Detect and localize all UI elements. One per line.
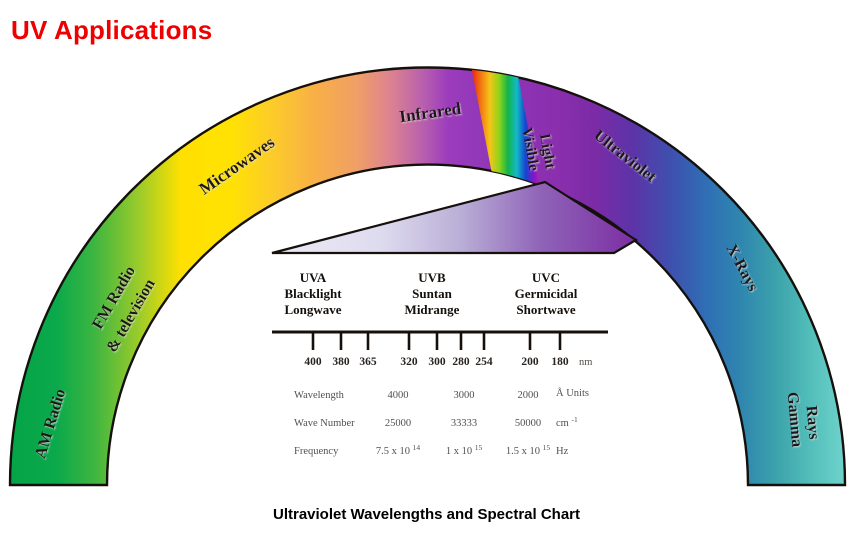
row-value-2-0-sup: 14 xyxy=(413,443,421,452)
row-value-2-1-base: 1 x 10 xyxy=(446,446,472,457)
uv-subband-use-2: Germicidal xyxy=(515,286,578,301)
row-value-2-2-base: 1.5 x 10 xyxy=(506,446,540,457)
row-label-2: Frequency xyxy=(294,446,339,457)
row-unit-1-base: cm xyxy=(556,418,569,429)
wavelength-axis: 400 380 365 320 300 280 254 200 180 nm xyxy=(272,332,608,368)
row-value-2-0: 7.5 x 10 14 xyxy=(376,443,421,457)
uv-subband-use-1: Suntan xyxy=(412,286,453,301)
row-value-2-2: 1.5 x 10 15 xyxy=(506,443,551,457)
row-label-0: Wavelength xyxy=(294,390,345,401)
axis-ticks xyxy=(313,332,560,350)
uv-subband-code-2: UVC xyxy=(532,270,560,285)
figure-caption: Ultraviolet Wavelengths and Spectral Cha… xyxy=(0,506,853,523)
axis-tick-label-8: 180 xyxy=(551,356,569,368)
table-row: Frequency 7.5 x 10 14 1 x 10 15 1.5 x 10… xyxy=(294,443,569,457)
row-value-0-1: 3000 xyxy=(454,390,475,401)
axis-tick-label-6: 254 xyxy=(475,356,493,368)
page-title: UV Applications xyxy=(11,15,212,46)
row-value-1-1: 33333 xyxy=(451,418,477,429)
row-unit-0-text: Å Units xyxy=(556,387,589,399)
row-value-0-2: 2000 xyxy=(518,390,539,401)
axis-tick-label-3: 320 xyxy=(400,356,418,368)
axis-tick-label-5: 280 xyxy=(452,356,470,368)
axis-tick-label-7: 200 xyxy=(521,356,539,368)
arch-label-gamma-rays-line2: Rays xyxy=(803,405,823,440)
row-value-0-0: 4000 xyxy=(388,390,409,401)
uv-subband-code-1: UVB xyxy=(418,270,446,285)
row-unit-1: cm -1 xyxy=(556,415,578,429)
spectrum-figure: AM Radio FM Radio & television Microwave… xyxy=(0,0,853,559)
axis-tick-label-2: 365 xyxy=(359,356,377,368)
uv-subband-range-0: Longwave xyxy=(284,302,341,317)
row-unit-2-base: Hz xyxy=(556,446,569,457)
row-value-1-0: 25000 xyxy=(385,418,411,429)
axis-tick-labels: 400 380 365 320 300 280 254 200 180 nm xyxy=(304,356,592,368)
axis-tick-label-4: 300 xyxy=(428,356,446,368)
row-unit-0: Å Units xyxy=(556,387,589,399)
row-value-1-2: 50000 xyxy=(515,418,541,429)
uv-subband-headings: UVA Blacklight Longwave UVB Suntan Midra… xyxy=(284,270,577,317)
spectrum-svg: AM Radio FM Radio & television Microwave… xyxy=(0,0,853,559)
table-row: Wave Number 25000 33333 50000 cm -1 xyxy=(294,415,578,429)
uv-subband-range-2: Shortwave xyxy=(516,302,575,317)
row-unit-1-sup: -1 xyxy=(571,415,577,424)
axis-unit-label: nm xyxy=(579,357,592,368)
uv-subband-range-1: Midrange xyxy=(405,302,460,317)
row-label-1: Wave Number xyxy=(294,418,355,429)
spectral-data-rows: Wavelength 4000 3000 2000 Å Units Wave N… xyxy=(294,387,589,457)
axis-tick-label-1: 380 xyxy=(332,356,350,368)
row-value-2-2-sup: 15 xyxy=(543,443,551,452)
row-value-2-1-sup: 15 xyxy=(475,443,483,452)
row-unit-2: Hz xyxy=(556,446,569,457)
row-value-2-1: 1 x 10 15 xyxy=(446,443,483,457)
row-value-2-0-base: 7.5 x 10 xyxy=(376,446,410,457)
uv-subband-use-0: Blacklight xyxy=(284,286,342,301)
table-row: Wavelength 4000 3000 2000 Å Units xyxy=(294,387,589,401)
axis-tick-label-0: 400 xyxy=(304,356,322,368)
uv-subband-code-0: UVA xyxy=(300,270,327,285)
